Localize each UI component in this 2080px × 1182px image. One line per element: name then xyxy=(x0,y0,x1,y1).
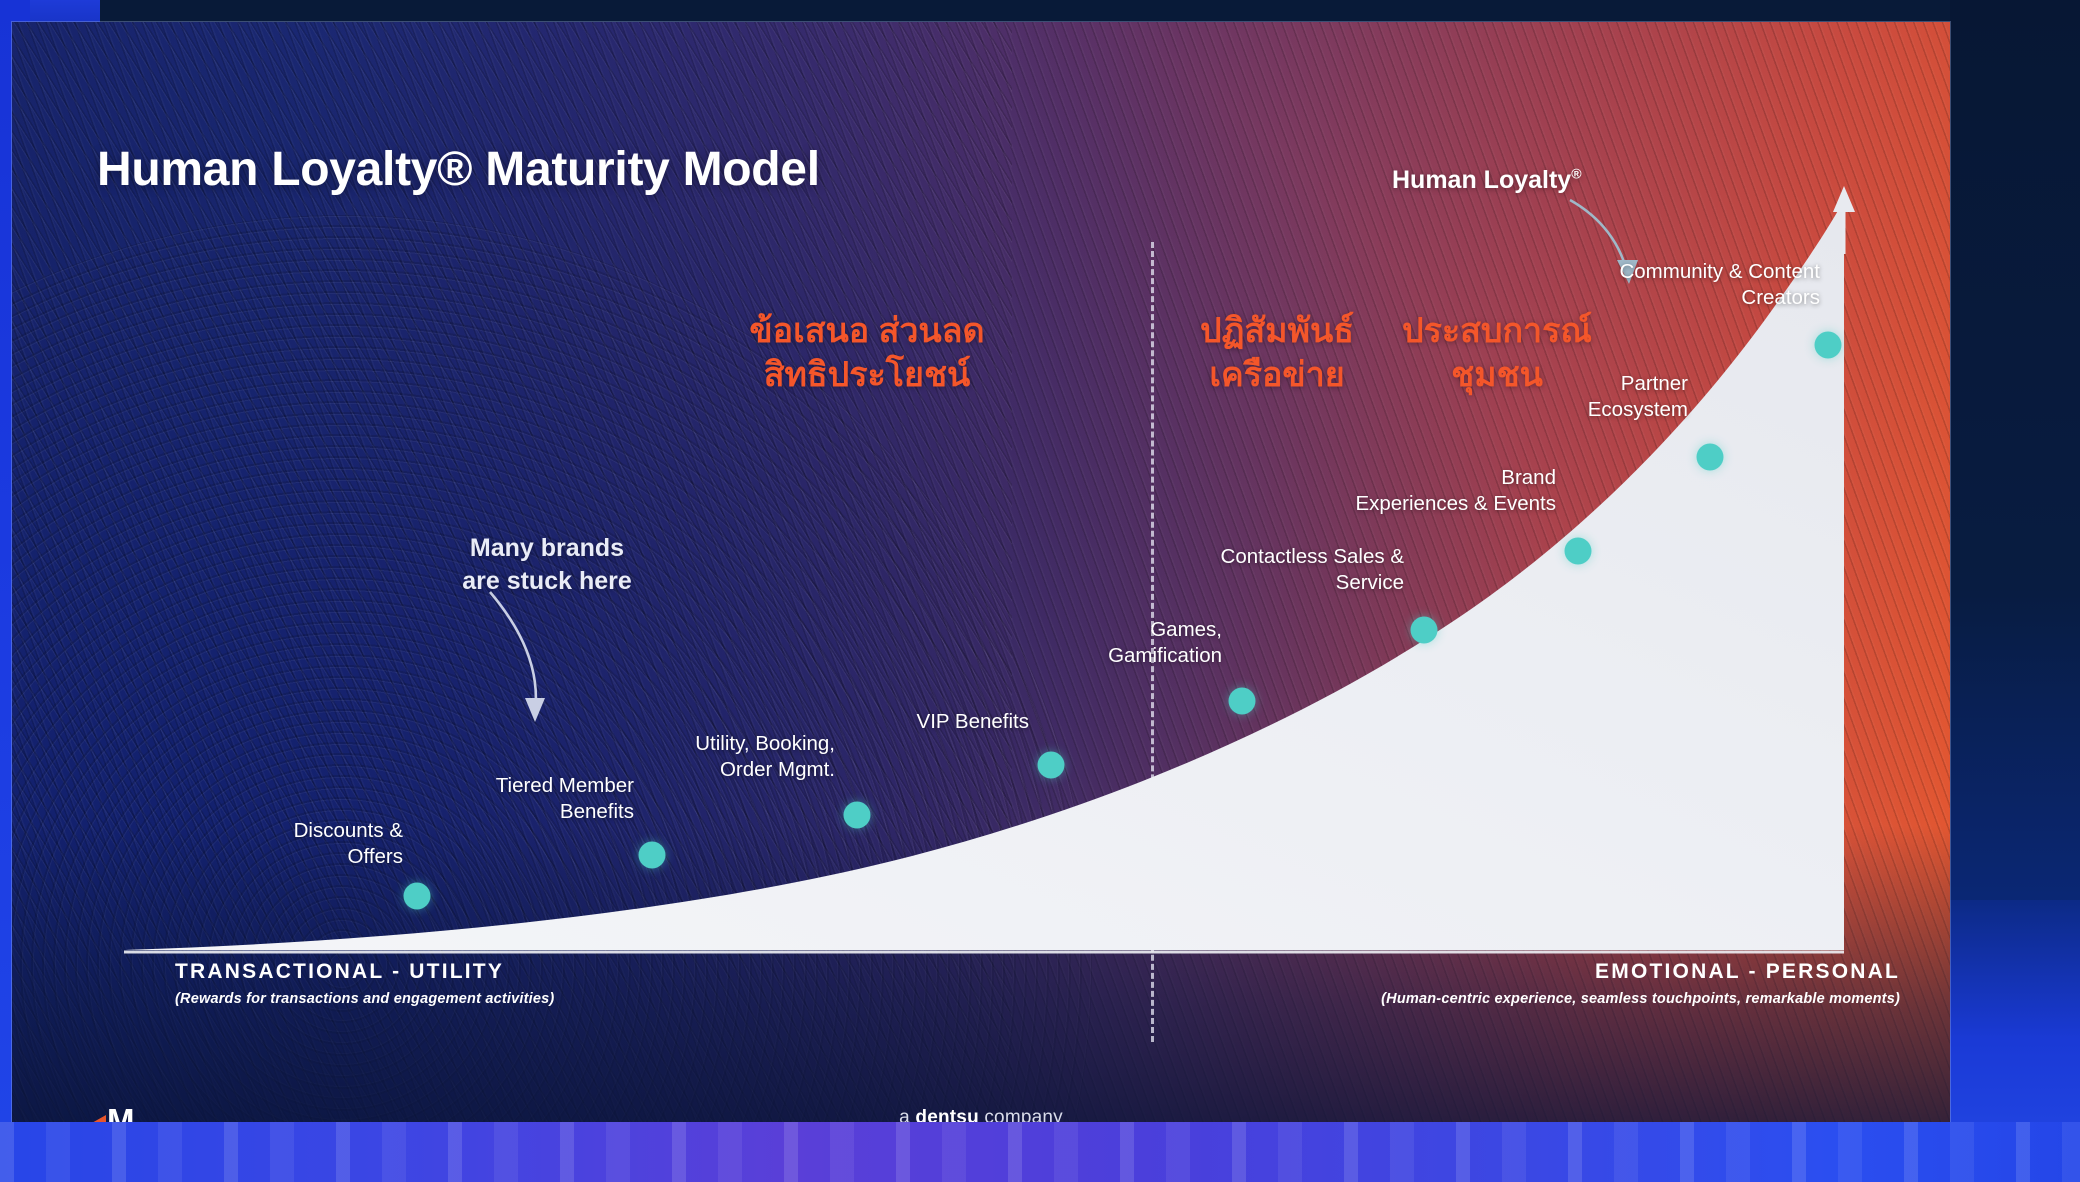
curve-point-marker xyxy=(1565,538,1592,565)
right-edge-strip xyxy=(1950,0,2080,980)
slide-canvas: Human Loyalty® Maturity Model ข้อเสนอ ส่… xyxy=(0,0,2080,1182)
axis-left-subtitle: (Rewards for transactions and engagement… xyxy=(175,991,554,1007)
curve-point-label-line: Ecosystem xyxy=(1588,397,1688,423)
annotation-human-loyalty-text: Human Loyalty xyxy=(1392,166,1571,194)
axis-right-subtitle: (Human-centric experience, seamless touc… xyxy=(1360,991,1900,1007)
curve-point-label-line: Order Mgmt. xyxy=(695,757,835,783)
curve-point-label-line: Games, xyxy=(1108,617,1222,643)
curve-point-label-line: Contactless Sales & xyxy=(1221,544,1404,570)
stuck-here-arrow xyxy=(490,592,536,712)
curve-point-label-line: Utility, Booking, xyxy=(695,731,835,757)
registered-trademark-icon: ® xyxy=(1571,166,1581,182)
axis-label-emotional: EMOTIONAL - PERSONAL (Human-centric expe… xyxy=(1360,960,1900,1007)
curve-point-label-line: Partner xyxy=(1588,371,1688,397)
curve-point-label-line: Offers xyxy=(294,844,403,870)
annotation-stuck-line1: Many brands xyxy=(470,534,624,562)
axis-label-transactional: TRANSACTIONAL - UTILITY (Rewards for tra… xyxy=(175,960,554,1007)
curve-point-label-line: Experiences & Events xyxy=(1355,491,1556,517)
curve-point-marker xyxy=(1411,617,1438,644)
curve-point-label-line: Creators xyxy=(1619,285,1820,311)
annotation-human-loyalty: Human Loyalty® xyxy=(1392,164,1642,197)
curve-point-marker xyxy=(1697,444,1724,471)
curve-point-label-line: Benefits xyxy=(496,799,634,825)
curve-point-label: Tiered MemberBenefits xyxy=(496,773,634,825)
bottom-striped-band xyxy=(0,1122,2080,1182)
curve-point-label: Contactless Sales &Service xyxy=(1221,544,1404,596)
curve-point-label: Community & ContentCreators xyxy=(1619,259,1820,311)
annotation-stuck-line2: are stuck here xyxy=(462,567,632,595)
curve-point-label: VIP Benefits xyxy=(917,709,1029,735)
curve-arrow-tip xyxy=(1833,186,1855,212)
curve-point-marker xyxy=(844,802,871,829)
curve-point-label: Utility, Booking,Order Mgmt. xyxy=(695,731,835,783)
curve-point-label: Discounts &Offers xyxy=(294,818,403,870)
curve-point-marker xyxy=(404,883,431,910)
curve-point-label: BrandExperiences & Events xyxy=(1355,465,1556,517)
curve-point-marker xyxy=(639,842,666,869)
curve-point-marker xyxy=(1229,688,1256,715)
presentation-slide: Human Loyalty® Maturity Model ข้อเสนอ ส่… xyxy=(12,22,1950,1155)
curve-point-label-line: Gamification xyxy=(1108,643,1222,669)
curve-point-label: Games,Gamification xyxy=(1108,617,1222,669)
axis-left-title: TRANSACTIONAL - UTILITY xyxy=(175,960,554,984)
axis-right-title: EMOTIONAL - PERSONAL xyxy=(1360,960,1900,984)
curve-point-marker xyxy=(1815,332,1842,359)
curve-point-label-line: Discounts & xyxy=(294,818,403,844)
annotation-many-brands-stuck: Many brands are stuck here xyxy=(432,532,662,597)
curve-point-marker xyxy=(1038,752,1065,779)
curve-point-label-line: Community & Content xyxy=(1619,259,1820,285)
curve-point-label-line: Service xyxy=(1221,570,1404,596)
curve-point-label-line: Brand xyxy=(1355,465,1556,491)
curve-point-label-line: Tiered Member xyxy=(496,773,634,799)
stuck-here-arrow-head xyxy=(525,698,545,722)
curve-point-label: PartnerEcosystem xyxy=(1588,371,1688,423)
curve-point-label-line: VIP Benefits xyxy=(917,709,1029,735)
